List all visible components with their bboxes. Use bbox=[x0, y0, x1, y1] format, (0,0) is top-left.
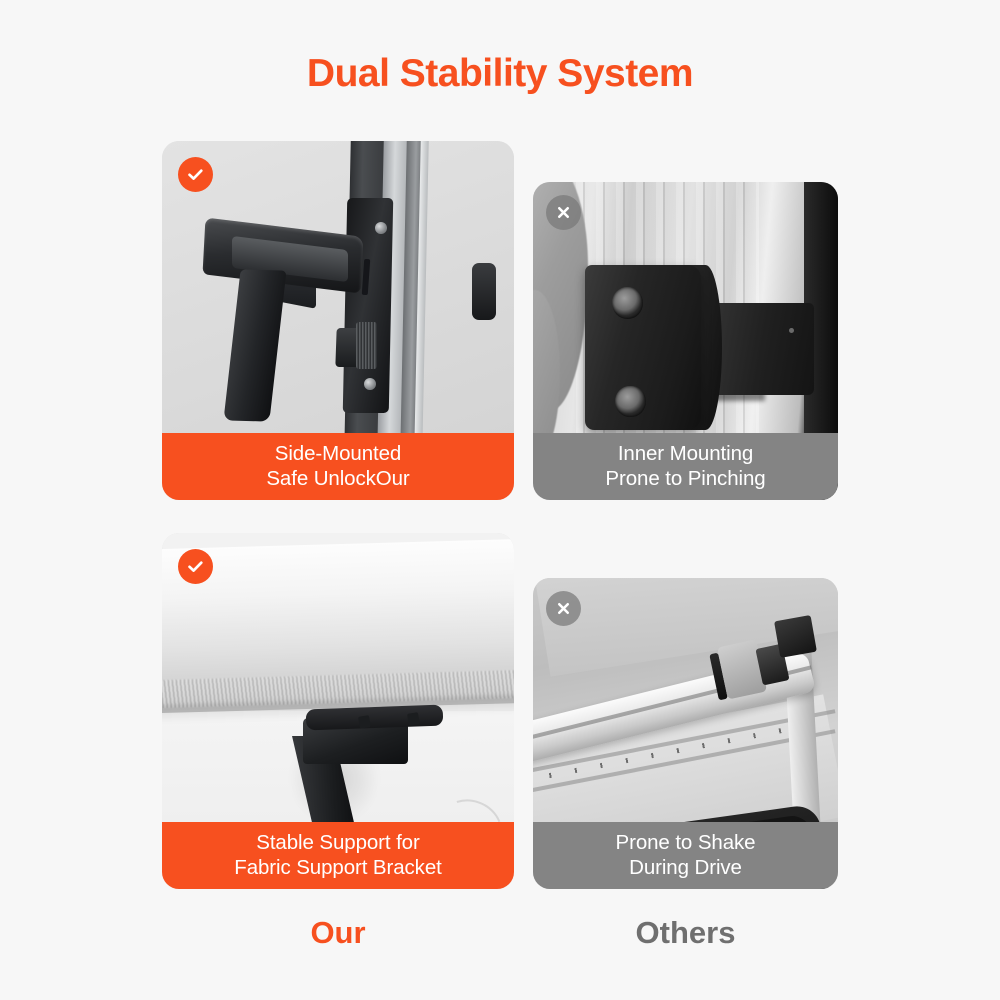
check-icon bbox=[178, 549, 213, 584]
caption-line-1: Side-Mounted bbox=[275, 442, 401, 465]
caption-other-bracket: Inner Mounting Prone to Pinching bbox=[533, 433, 838, 500]
caption-other-shake: Prone to Shake During Drive bbox=[533, 822, 838, 889]
caption-our-support: Stable Support for Fabric Support Bracke… bbox=[162, 822, 514, 889]
x-icon bbox=[546, 591, 581, 626]
caption-line-1: Prone to Shake bbox=[616, 831, 756, 854]
footer-label-others: Others bbox=[533, 915, 838, 951]
comparison-card-other-shake: Prone to Shake During Drive bbox=[533, 578, 838, 889]
caption-line-1: Inner Mounting bbox=[618, 442, 753, 465]
x-icon bbox=[546, 195, 581, 230]
comparison-card-our-support: Stable Support for Fabric Support Bracke… bbox=[162, 533, 514, 889]
caption-line-2: Prone to Pinching bbox=[533, 466, 838, 491]
comparison-card-other-bracket: Inner Mounting Prone to Pinching bbox=[533, 182, 838, 500]
page-title: Dual Stability System bbox=[0, 52, 1000, 96]
caption-line-2: Safe UnlockOur bbox=[162, 466, 514, 491]
footer-label-our: Our bbox=[162, 915, 514, 951]
caption-our-lock: Side-Mounted Safe UnlockOur bbox=[162, 433, 514, 500]
caption-line-2: Fabric Support Bracket bbox=[162, 855, 514, 880]
caption-line-2: During Drive bbox=[533, 855, 838, 880]
infographic-page: Dual Stability System Sid bbox=[0, 0, 1000, 1000]
check-icon bbox=[178, 157, 213, 192]
caption-line-1: Stable Support for bbox=[256, 831, 419, 854]
comparison-card-our-lock: Side-Mounted Safe UnlockOur bbox=[162, 141, 514, 500]
